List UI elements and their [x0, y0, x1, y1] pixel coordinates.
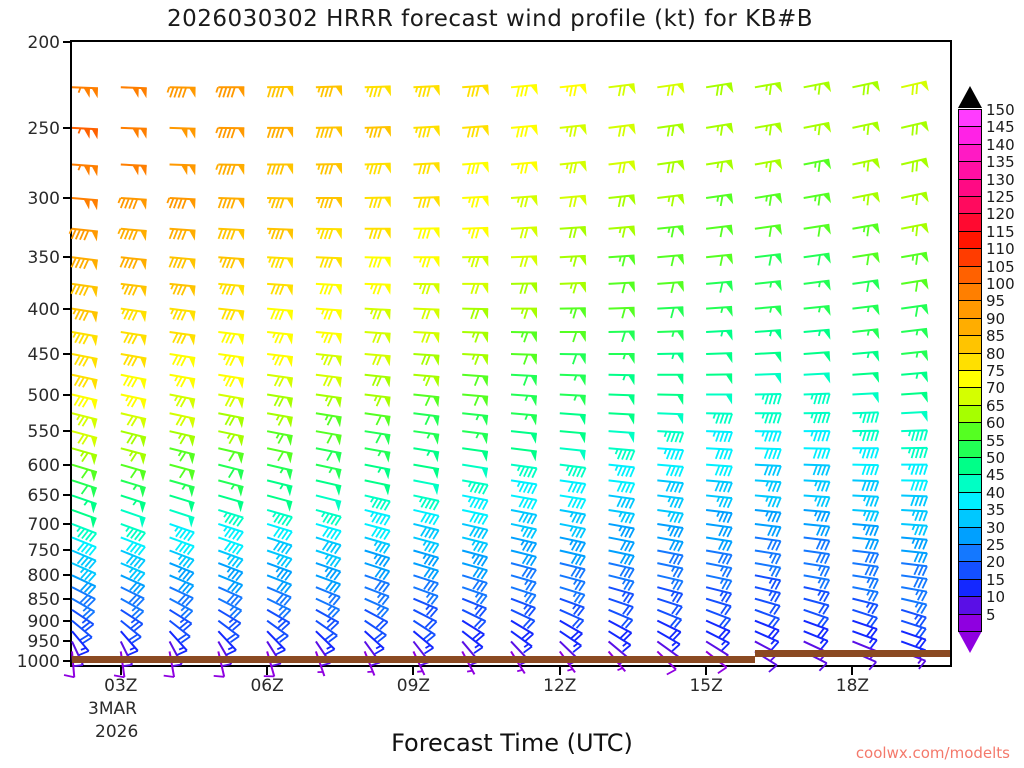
- barb-pennant: [384, 452, 390, 463]
- barb-shaft: [72, 587, 95, 599]
- barb-full: [174, 258, 178, 268]
- barb-full: [822, 482, 826, 492]
- wind-barb: [657, 495, 683, 508]
- barb-pennant: [726, 331, 733, 341]
- wind-barb: [413, 495, 438, 510]
- barb-pennant: [433, 451, 439, 462]
- barb-full: [422, 309, 426, 319]
- barb-full: [630, 451, 634, 461]
- colorbar-swatch: [958, 109, 982, 127]
- wind-barb: [804, 448, 830, 458]
- barb-full: [279, 377, 284, 386]
- barb-half: [620, 256, 621, 261]
- barb-shaft: [852, 537, 878, 540]
- barb-full: [377, 310, 381, 320]
- barb-full: [919, 539, 923, 549]
- colorbar-tick-label: 80: [986, 345, 1005, 363]
- barb-pennant: [140, 88, 147, 98]
- barb-half: [521, 541, 524, 546]
- wind-barb: [218, 465, 243, 481]
- barb-pennant: [872, 82, 881, 92]
- barb-full: [725, 414, 728, 424]
- barb-full: [521, 127, 523, 137]
- barb-shaft: [267, 610, 290, 623]
- wind-barb: [365, 395, 391, 408]
- barb-full: [874, 526, 878, 536]
- barb-pennant: [335, 198, 342, 208]
- y-axis-tick: [63, 353, 70, 355]
- barb-pennant: [482, 284, 489, 294]
- colorbar-swatch: [958, 126, 982, 144]
- barb-pennant: [384, 164, 391, 174]
- barb-full: [232, 87, 235, 97]
- barb-full: [230, 334, 234, 344]
- barb-full: [133, 230, 137, 240]
- barb-full: [321, 87, 324, 97]
- wind-barb: [657, 226, 684, 237]
- wind-barb: [462, 197, 488, 208]
- barb-full: [875, 512, 879, 522]
- barb-full: [182, 311, 186, 321]
- barb-full: [721, 125, 723, 135]
- barb-half: [130, 452, 133, 457]
- wind-barb: [121, 284, 147, 297]
- barb-full: [84, 311, 89, 320]
- barb-shaft: [72, 395, 97, 401]
- wind-barb: [365, 495, 390, 510]
- wind-barb: [267, 284, 293, 296]
- barb-half: [276, 568, 279, 572]
- wind-barb: [852, 224, 879, 236]
- barb-half: [867, 591, 870, 596]
- barb-full: [765, 394, 768, 404]
- barb-half: [179, 568, 183, 572]
- wind-barb: [316, 164, 342, 174]
- barb-full: [120, 258, 124, 268]
- barb-full: [426, 333, 430, 343]
- barb-full: [328, 397, 333, 407]
- wind-barb: [413, 197, 439, 208]
- barb-full: [723, 567, 728, 576]
- barb-pennant: [530, 415, 537, 426]
- barb-half: [770, 553, 773, 558]
- barb-full: [569, 466, 573, 476]
- barb-full: [219, 87, 222, 97]
- barb-pennant: [433, 257, 440, 267]
- barb-half: [623, 643, 627, 647]
- barb-full: [223, 198, 227, 208]
- barb-pennant: [433, 127, 440, 137]
- barb-full: [581, 484, 586, 493]
- barb-full: [819, 663, 826, 671]
- barb-half: [567, 164, 568, 169]
- wind-barb: [267, 309, 293, 321]
- barb-pennant: [84, 165, 91, 175]
- wind-barb: [170, 465, 195, 481]
- wind-barb: [609, 375, 635, 385]
- y-axis-tick-label: 850: [0, 590, 60, 610]
- wind-barb: [267, 510, 292, 526]
- barb-full: [427, 197, 430, 207]
- barb-full: [623, 163, 625, 173]
- barb-half: [277, 555, 280, 559]
- colorbar-tick-label: 65: [986, 397, 1005, 415]
- wind-barb: [511, 196, 538, 207]
- barb-half: [175, 527, 178, 531]
- barb-full: [370, 128, 373, 138]
- barb-full: [821, 512, 825, 522]
- barb-shaft: [267, 309, 293, 311]
- barb-half: [668, 228, 669, 233]
- barb-half: [469, 482, 472, 487]
- wind-barb: [511, 537, 536, 552]
- barb-pennant: [91, 335, 97, 346]
- wind-barb: [804, 537, 830, 550]
- barb-full: [317, 128, 320, 138]
- barb-full: [519, 498, 524, 507]
- barb-full: [911, 496, 915, 506]
- wind-barb: [218, 395, 244, 409]
- barb-full: [329, 164, 332, 174]
- x-axis-tick: [559, 667, 561, 675]
- barb-half: [224, 513, 227, 517]
- barb-full: [471, 309, 474, 319]
- barb-full: [919, 526, 923, 536]
- barb-half: [426, 645, 431, 648]
- barb-full: [911, 465, 914, 475]
- wind-barb: [71, 284, 97, 298]
- barb-pennant: [237, 435, 243, 446]
- wind-barb: [804, 82, 831, 94]
- barb-full: [770, 227, 772, 237]
- wind-barb: [901, 412, 927, 422]
- barb-full: [227, 128, 230, 138]
- barb-half: [570, 512, 573, 517]
- barb-full: [328, 333, 332, 343]
- barb-half: [815, 196, 816, 201]
- barb-full: [821, 554, 826, 564]
- barb-half: [864, 125, 865, 130]
- barb-full: [369, 257, 372, 267]
- wind-barb: [462, 621, 484, 642]
- wind-barb: [214, 651, 225, 676]
- wind-barb: [413, 257, 439, 267]
- barb-pennant: [238, 165, 245, 175]
- barb-full: [724, 449, 728, 459]
- barb-pennant: [920, 82, 929, 92]
- barb-half: [126, 527, 129, 531]
- wind-barb: [170, 165, 196, 176]
- barb-full: [869, 662, 876, 670]
- barb-full: [777, 449, 781, 459]
- wind-barb: [316, 431, 342, 445]
- barb-full: [321, 198, 324, 208]
- barb-half: [280, 468, 283, 473]
- wind-barb: [901, 193, 928, 205]
- wind-barb: [121, 165, 147, 176]
- barb-half: [327, 646, 332, 649]
- barb-pennant: [482, 257, 489, 267]
- barb-full: [574, 256, 577, 266]
- colorbar-tick-label: 60: [986, 414, 1005, 432]
- wind-barb: [218, 480, 243, 496]
- barb-full: [819, 125, 820, 135]
- barb-full: [76, 230, 80, 240]
- barb-full: [272, 87, 275, 97]
- wind-barb: [218, 284, 244, 296]
- barb-shaft: [755, 537, 781, 541]
- colorbar-swatch: [958, 579, 982, 597]
- barb-full: [916, 84, 917, 95]
- barb-full: [671, 308, 674, 318]
- wind-barb: [170, 621, 190, 643]
- barb-half: [280, 484, 283, 489]
- barb-shaft: [316, 465, 341, 470]
- y-axis-tick-label: 250: [0, 119, 60, 139]
- wind-barb: [462, 284, 488, 294]
- wind-barb: [511, 332, 537, 342]
- barb-pennant: [726, 226, 734, 236]
- barb-half: [228, 647, 233, 649]
- barb-half: [669, 197, 670, 202]
- barb-full: [672, 196, 674, 206]
- wind-barb: [901, 480, 927, 490]
- barb-shaft: [511, 610, 535, 621]
- barb-full: [720, 282, 722, 292]
- barb-pennant: [725, 160, 733, 170]
- barb-pennant: [335, 334, 342, 345]
- y-axis-tick: [63, 549, 70, 551]
- x-axis-tick-label: 06Z: [250, 676, 283, 696]
- wind-barb: [609, 84, 636, 96]
- x-axis-tick-label: 09Z: [397, 676, 430, 696]
- barb-full: [573, 308, 576, 318]
- barb-full: [568, 498, 573, 507]
- barb-full: [227, 229, 231, 239]
- wind-barb: [121, 610, 143, 631]
- barb-full: [275, 396, 280, 405]
- wind-barb: [706, 510, 732, 523]
- barb-full: [621, 513, 626, 522]
- barb-shaft: [170, 431, 195, 437]
- barb-pennant: [335, 377, 342, 388]
- wind-barb: [609, 282, 635, 293]
- barb-full: [772, 527, 776, 537]
- barb-full: [827, 431, 830, 441]
- barb-half: [574, 643, 578, 646]
- barb-pennant: [286, 435, 292, 446]
- barb-full: [231, 310, 235, 320]
- barb-full: [874, 554, 878, 564]
- barb-full: [817, 553, 822, 563]
- barb-pennant: [335, 452, 341, 463]
- barb-pennant: [238, 230, 245, 240]
- colorbar-tick-label: 90: [986, 310, 1005, 328]
- y-axis-tick-label: 450: [0, 345, 60, 365]
- barb-full: [817, 497, 821, 507]
- barb-full: [776, 541, 781, 550]
- barb-pennant: [189, 311, 196, 322]
- colorbar-tick-label: 135: [986, 153, 1015, 171]
- barb-shaft: [72, 448, 97, 455]
- barb-pennant: [921, 280, 929, 290]
- wind-barb: [365, 431, 391, 445]
- wind-barb: [72, 87, 98, 98]
- barb-full: [814, 431, 817, 441]
- barb-pennant: [140, 129, 147, 139]
- barb-pennant: [384, 229, 391, 239]
- wind-barb: [218, 621, 239, 643]
- barb-full: [821, 526, 825, 536]
- barb-half: [916, 590, 919, 595]
- barb-full: [912, 431, 915, 441]
- barb-full: [718, 667, 727, 673]
- barb-pennant: [92, 166, 98, 176]
- wind-barb: [121, 621, 141, 643]
- barb-half: [672, 642, 676, 646]
- wind-barb: [413, 309, 439, 320]
- barb-full: [230, 377, 235, 386]
- barb-full: [475, 309, 478, 319]
- wind-barb: [901, 524, 927, 536]
- credit-link[interactable]: coolwx.com/modelts: [856, 744, 1010, 762]
- barb-full: [723, 554, 728, 563]
- wind-barb: [462, 465, 488, 479]
- barb-full: [716, 449, 720, 459]
- x-axis-tick: [412, 667, 414, 675]
- barb-pennant: [91, 379, 97, 390]
- wind-barb: [267, 495, 292, 511]
- barb-half: [867, 603, 870, 608]
- wind-barb: [72, 465, 97, 482]
- barb-half: [717, 163, 718, 168]
- wind-barb: [560, 448, 586, 461]
- barb-full: [329, 229, 332, 239]
- barb-half: [766, 162, 767, 167]
- barb-half: [175, 376, 178, 381]
- barb-full: [427, 284, 430, 294]
- barb-full: [325, 649, 334, 654]
- wind-barb: [316, 229, 342, 239]
- barb-half: [216, 128, 218, 133]
- barb-half: [913, 226, 914, 232]
- barb-full: [720, 256, 722, 266]
- barb-full: [674, 527, 679, 536]
- wind-barb: [901, 122, 929, 136]
- barb-full: [373, 284, 377, 294]
- wind-barb: [657, 395, 683, 405]
- wind-barb: [609, 161, 636, 173]
- barb-full: [472, 87, 475, 97]
- barb-full: [619, 197, 621, 207]
- barb-full: [370, 164, 373, 174]
- barb-full: [581, 515, 586, 524]
- barb-full: [177, 651, 187, 655]
- barb-full: [276, 650, 285, 655]
- barb-half: [279, 606, 283, 610]
- barb-full: [422, 333, 426, 343]
- barb-full: [622, 483, 626, 493]
- wind-barb: [365, 375, 391, 388]
- barb-full: [472, 228, 475, 238]
- barb-pennant: [920, 253, 928, 263]
- barb-full: [670, 527, 675, 536]
- barb-full: [325, 128, 328, 138]
- wind-barb: [755, 160, 782, 172]
- barb-half: [525, 593, 528, 597]
- barb-half: [130, 568, 134, 572]
- barb-full: [862, 481, 866, 491]
- barb-full: [724, 466, 728, 476]
- barb-full: [232, 165, 235, 175]
- colorbar-tick-label: 70: [986, 379, 1005, 397]
- barb-full: [678, 542, 683, 551]
- barb-full: [574, 86, 576, 96]
- barb-pennant: [287, 334, 294, 345]
- colorbar-under-arrow: [958, 631, 982, 653]
- barb-pennant: [482, 333, 489, 343]
- plot-area: [70, 40, 952, 667]
- barb-full: [75, 310, 80, 319]
- barb-shaft: [72, 495, 97, 503]
- barb-full: [375, 649, 384, 654]
- y-axis-tick: [63, 494, 70, 496]
- barb-pennant: [531, 196, 538, 206]
- barb-full: [626, 450, 630, 460]
- barb-pennant: [774, 374, 781, 384]
- barb-full: [419, 87, 422, 97]
- wind-barb: [218, 510, 243, 526]
- wind-barb: [657, 431, 683, 442]
- wind-barb: [72, 631, 89, 655]
- barb-half: [231, 485, 234, 490]
- wind-barb: [901, 575, 927, 588]
- barb-full: [719, 512, 723, 522]
- wind-barb: [560, 431, 586, 443]
- barb-full: [472, 197, 475, 207]
- y-axis-tick: [63, 430, 70, 432]
- barb-full: [229, 469, 235, 478]
- barb-pennant: [628, 433, 635, 444]
- barb-full: [232, 128, 235, 138]
- barb-pennant: [677, 226, 685, 236]
- wind-barb: [657, 354, 683, 364]
- barb-full: [129, 285, 133, 295]
- barb-full: [770, 84, 771, 95]
- wind-barb: [365, 284, 391, 295]
- barb-half: [868, 330, 869, 335]
- barb-half: [915, 615, 918, 620]
- barb-pennant: [335, 310, 342, 321]
- barb-full: [472, 164, 475, 174]
- barb-full: [911, 481, 914, 491]
- barb-full: [573, 283, 576, 293]
- barb-pennant: [188, 486, 194, 497]
- barb-full: [223, 229, 227, 239]
- barb-pennant: [238, 87, 245, 97]
- barb-full: [871, 481, 875, 491]
- colorbar-swatch: [958, 144, 982, 162]
- barb-pennant: [531, 396, 537, 406]
- barb-full: [329, 310, 333, 320]
- wind-barb: [121, 413, 146, 429]
- wind-barb: [72, 551, 96, 569]
- barb-half: [570, 527, 573, 532]
- barb-full: [178, 258, 182, 268]
- barb-half: [864, 196, 865, 202]
- wind-barb: [560, 256, 587, 267]
- barb-full: [630, 484, 634, 494]
